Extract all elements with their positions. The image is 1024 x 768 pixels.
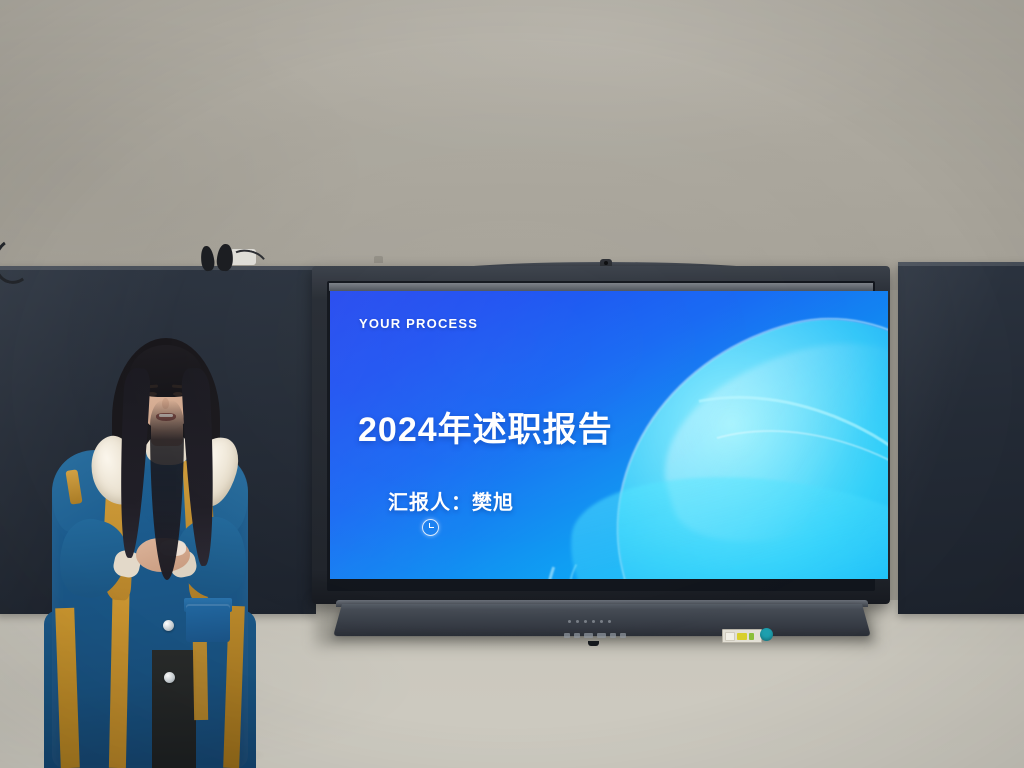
presenter-coat-button	[164, 672, 175, 683]
presenter-pocket	[186, 604, 230, 642]
display-inner-top-strip	[329, 283, 873, 291]
display-indicator-dots	[568, 620, 611, 623]
presentation-slide[interactable]: YOUR PROCESS 2024年述职报告 汇报人：樊旭	[330, 291, 888, 579]
slide-title: 2024年述职报告	[358, 402, 613, 451]
wall-upper	[0, 0, 1024, 290]
photo-scene: YOUR PROCESS 2024年述职报告 汇报人：樊旭	[0, 0, 1024, 768]
clock-circle-icon[interactable]	[422, 519, 439, 536]
presenter-coat-inner-dark	[152, 650, 196, 768]
camera-lens-icon	[604, 261, 608, 265]
slide-presenter: 汇报人：樊旭	[388, 486, 514, 515]
display-sticker-label	[722, 629, 762, 643]
display-control-buttons[interactable]	[564, 633, 626, 638]
blackboard-top-edge-right	[898, 262, 1024, 266]
slide-kicker: YOUR PROCESS	[359, 316, 478, 331]
wall-mount-nub	[374, 256, 383, 263]
blackboard-top-edge	[0, 266, 316, 270]
presenter-coat-button	[163, 620, 174, 631]
ir-receiver-icon	[588, 641, 599, 646]
blackboard-panel-right	[898, 262, 1024, 614]
power-button[interactable]	[760, 628, 773, 641]
